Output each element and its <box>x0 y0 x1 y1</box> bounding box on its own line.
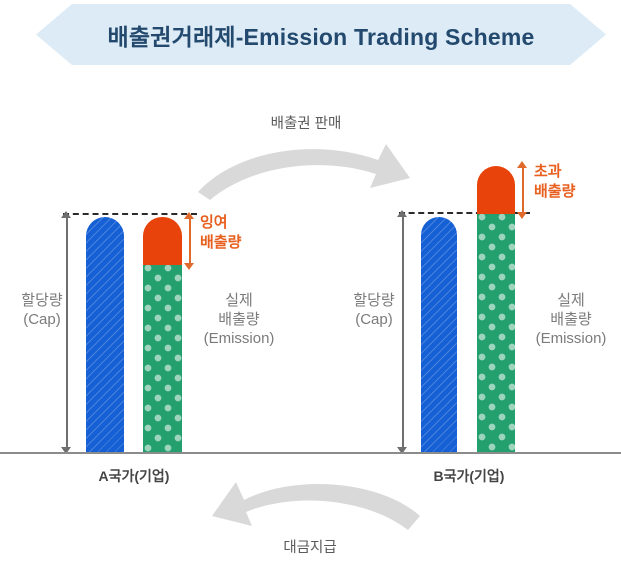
baseline-axis <box>0 452 621 454</box>
emission-bar-b <box>477 212 515 453</box>
cap-label-b: 할당량 (Cap) <box>336 291 412 329</box>
emission-label-a-line1: 실제 <box>189 291 289 310</box>
emission-label-b: 실제 배출량 (Emission) <box>521 291 621 348</box>
flow-label-sell: 배출권 판매 <box>198 112 414 133</box>
cap-bar-a <box>86 217 124 453</box>
arrow-shaft <box>189 217 191 265</box>
emission-label-a-line3: (Emission) <box>189 329 289 348</box>
cap-label-a: 할당량 (Cap) <box>4 291 80 329</box>
cap-label-b-line2: (Cap) <box>336 310 412 329</box>
cap-measure-arrow-a <box>61 211 72 454</box>
surplus-label-a: 잉여 배출량 <box>200 213 241 253</box>
arrow-shaft <box>522 166 524 214</box>
cap-label-a-line1: 할당량 <box>4 291 80 310</box>
cap-bar-b <box>421 217 457 453</box>
axis-label-b: B국가(기업) <box>399 466 539 486</box>
cap-measure-arrow-b <box>397 210 408 454</box>
surplus-label-a-line1: 잉여 <box>200 213 241 233</box>
excess-label-b-line1: 초과 <box>534 162 575 182</box>
surplus-measure-arrow-a <box>184 212 195 270</box>
arrow-shaft <box>402 215 404 449</box>
emission-label-b-line3: (Emission) <box>521 329 621 348</box>
arrow-head-down-icon <box>517 212 527 219</box>
flow-arrow-payment <box>198 474 422 536</box>
flow-arrow-sell <box>196 134 416 206</box>
emission-label-a: 실제 배출량 (Emission) <box>189 291 289 348</box>
excess-label-b-line2: 배출량 <box>534 182 575 202</box>
excess-label-b: 초과 배출량 <box>534 162 575 202</box>
emission-bar-a <box>143 263 182 453</box>
cap-label-b-line1: 할당량 <box>336 291 412 310</box>
flow-label-payment: 대금지급 <box>198 536 422 557</box>
surplus-bar-a <box>143 217 182 265</box>
arrow-shaft <box>66 216 68 449</box>
diagram-canvas: 배출권거래제-Emission Trading Scheme 배출권 판매 대금… <box>0 0 621 566</box>
cap-line-a <box>63 213 197 215</box>
emission-label-a-line2: 배출량 <box>189 310 289 329</box>
cap-label-a-line2: (Cap) <box>4 310 80 329</box>
axis-label-a: A국가(기업) <box>64 466 204 486</box>
surplus-label-a-line2: 배출량 <box>200 233 241 253</box>
arrow-head-down-icon <box>184 263 194 270</box>
title-banner: 배출권거래제-Emission Trading Scheme <box>36 4 606 65</box>
emission-label-b-line2: 배출량 <box>521 310 621 329</box>
emission-label-b-line1: 실제 <box>521 291 621 310</box>
page-title: 배출권거래제-Emission Trading Scheme <box>36 4 606 65</box>
excess-bar-b <box>477 166 515 214</box>
excess-measure-arrow-b <box>517 161 528 219</box>
